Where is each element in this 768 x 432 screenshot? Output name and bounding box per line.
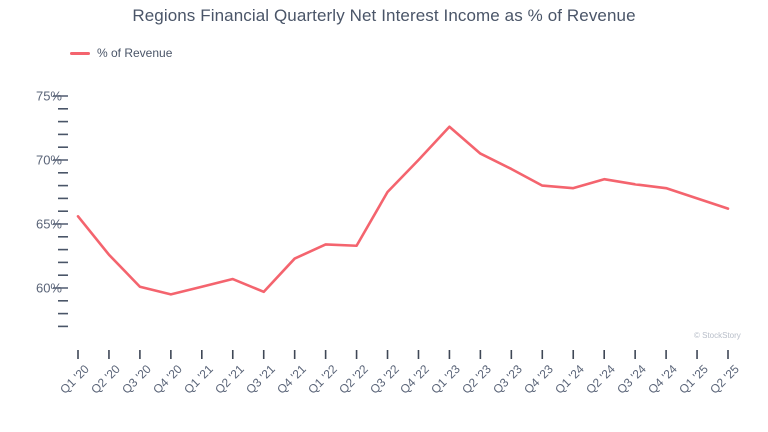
series-line-pct-of-revenue <box>78 127 728 295</box>
plot-area <box>0 0 768 432</box>
x-axis-tick-marks <box>78 350 728 359</box>
chart-container: Regions Financial Quarterly Net Interest… <box>0 0 768 432</box>
y-axis-tick-marks <box>53 96 68 326</box>
stockstory-watermark: © StockStory <box>694 331 741 340</box>
